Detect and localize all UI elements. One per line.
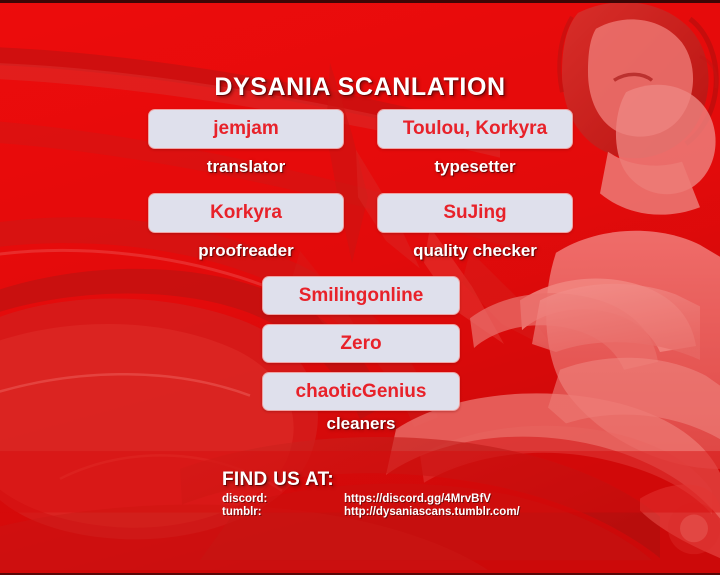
contact-link-tumblr[interactable]: http://dysaniascans.tumblr.com/ bbox=[344, 506, 520, 519]
role-label-quality-checker: quality checker bbox=[377, 241, 573, 261]
credit-name-proofreader: Korkyra bbox=[210, 202, 282, 224]
credit-plate-cleaner-1: Smilingonline bbox=[262, 276, 460, 315]
contact-label-discord: discord: bbox=[222, 493, 344, 506]
credit-name-cleaner-2: Zero bbox=[340, 333, 381, 355]
role-label-translator: translator bbox=[148, 157, 344, 177]
role-label-proofreader: proofreader bbox=[148, 241, 344, 261]
find-us-at-heading: FIND US AT: bbox=[222, 469, 522, 491]
contact-link-discord[interactable]: https://discord.gg/4MrvBfV bbox=[344, 493, 491, 506]
credit-plate-translator: jemjam bbox=[148, 109, 344, 149]
find-us-at-section: FIND US AT: discord: https://discord.gg/… bbox=[222, 469, 522, 519]
credit-name-cleaner-3: chaoticGenius bbox=[296, 381, 427, 403]
contact-label-tumblr: tumblr: bbox=[222, 506, 344, 519]
role-label-typesetter: typesetter bbox=[377, 157, 573, 177]
credit-plate-quality-checker: SuJing bbox=[377, 193, 573, 233]
credit-name-cleaner-1: Smilingonline bbox=[299, 285, 424, 307]
contact-row-tumblr: tumblr: http://dysaniascans.tumblr.com/ bbox=[222, 506, 522, 519]
scanlation-credits-page: DYSANIA SCANLATION jemjam translator Tou… bbox=[0, 0, 720, 575]
contact-row-discord: discord: https://discord.gg/4MrvBfV bbox=[222, 493, 522, 506]
credit-name-typesetter: Toulou, Korkyra bbox=[403, 118, 547, 140]
credit-name-translator: jemjam bbox=[213, 118, 278, 140]
credit-plate-proofreader: Korkyra bbox=[148, 193, 344, 233]
credit-plate-typesetter: Toulou, Korkyra bbox=[377, 109, 573, 149]
role-label-cleaners: cleaners bbox=[262, 414, 460, 434]
credit-name-quality-checker: SuJing bbox=[443, 202, 506, 224]
page-title: DYSANIA SCANLATION bbox=[0, 73, 720, 102]
credit-plate-cleaner-2: Zero bbox=[262, 324, 460, 363]
credit-plate-cleaner-3: chaoticGenius bbox=[262, 372, 460, 411]
credits-content: DYSANIA SCANLATION jemjam translator Tou… bbox=[0, 3, 720, 573]
